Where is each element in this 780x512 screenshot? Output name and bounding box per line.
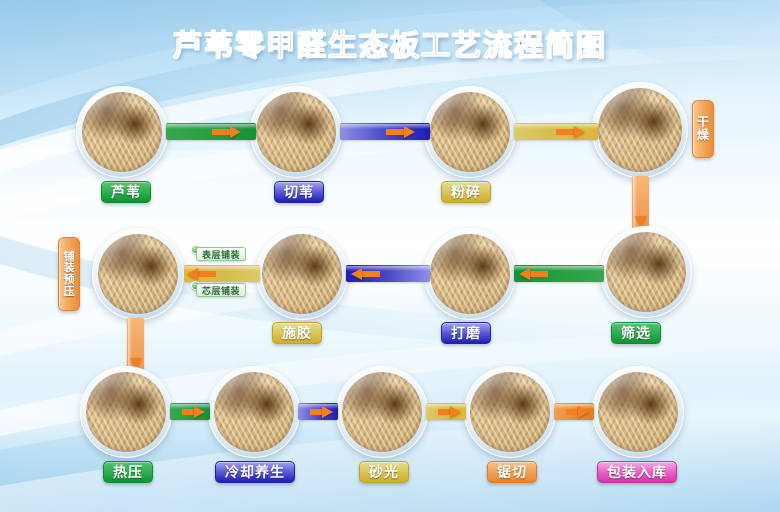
process-node-polish[interactable] — [424, 228, 516, 320]
connector-crush-to-dry — [514, 123, 598, 140]
node-photo — [470, 372, 550, 452]
connector-cut-to-crush — [340, 123, 430, 140]
process-node-sawing[interactable] — [464, 366, 556, 458]
arrow-left-icon — [519, 268, 530, 280]
step-label-cut-reed[interactable]: 切苇 — [274, 181, 324, 203]
process-node-hot-press[interactable] — [80, 366, 172, 458]
node-photo — [98, 234, 178, 314]
poster-canvas: 芦苇零甲醛生态板工艺流程简图 芦苇 切苇 粉碎 干燥 — [0, 0, 780, 512]
step-label-laying-prepress-text: 铺装预压 — [64, 251, 75, 297]
arrow-right-icon — [450, 406, 461, 418]
step-label-glue[interactable]: 施胶 — [272, 322, 322, 344]
step-label-laying-prepress[interactable]: 铺装预压 — [58, 237, 80, 311]
step-label-cooling-curing[interactable]: 冷却养生 — [215, 461, 295, 483]
arrow-stem — [386, 129, 404, 135]
node-photo — [430, 92, 510, 172]
step-label-polish[interactable]: 打磨 — [441, 322, 491, 344]
arrow-right-icon — [578, 406, 589, 418]
node-photo — [342, 372, 422, 452]
arrow-stem — [556, 129, 574, 135]
page-title-wrap: 芦苇零甲醛生态板工艺流程简图 — [0, 22, 780, 64]
arrow-right-icon — [404, 126, 415, 138]
process-node-dry[interactable] — [592, 82, 688, 178]
arrow-stem — [566, 409, 578, 415]
connector-hotpress-to-cooling — [170, 403, 210, 420]
node-photo — [214, 372, 294, 452]
process-node-reed[interactable] — [76, 86, 168, 178]
step-label-screen[interactable]: 筛选 — [611, 322, 661, 344]
arrow-stem — [438, 409, 450, 415]
step-label-reed[interactable]: 芦苇 — [101, 181, 151, 203]
arrow-stem — [310, 409, 322, 415]
arrow-stem — [362, 271, 380, 277]
step-label-hot-press[interactable]: 热压 — [103, 461, 153, 483]
step-label-sawing[interactable]: 锯切 — [487, 461, 537, 483]
process-node-crush[interactable] — [424, 86, 516, 178]
connector-glue-to-laying — [184, 265, 260, 282]
connector-sawing-to-packaging — [554, 403, 594, 420]
arrow-stem — [182, 409, 194, 415]
arrow-right-icon — [230, 126, 241, 138]
step-label-dry[interactable]: 干燥 — [692, 100, 714, 158]
process-node-screen[interactable] — [600, 226, 692, 318]
sub-label-core-layer[interactable]: 芯层铺装 — [196, 283, 246, 297]
arrow-left-icon — [187, 268, 198, 280]
connector-polish-to-glue — [346, 265, 430, 282]
arrow-left-icon — [351, 268, 362, 280]
connector-screen-to-polish — [514, 265, 604, 282]
process-node-cut-reed[interactable] — [250, 86, 342, 178]
node-photo — [256, 92, 336, 172]
node-photo — [86, 372, 166, 452]
arrow-right-icon — [322, 406, 333, 418]
step-label-crush[interactable]: 粉碎 — [441, 181, 491, 203]
process-node-sanding[interactable] — [336, 366, 428, 458]
process-node-cooling-curing[interactable] — [208, 366, 300, 458]
node-photo — [598, 372, 678, 452]
sub-label-surface-layer[interactable]: 表层铺装 — [196, 247, 246, 261]
step-label-packaging[interactable]: 包装入库 — [597, 461, 677, 483]
arrow-stem — [530, 271, 548, 277]
page-title: 芦苇零甲醛生态板工艺流程简图 — [173, 22, 607, 64]
step-label-dry-char1: 干燥 — [697, 116, 709, 141]
process-node-packaging[interactable] — [592, 366, 684, 458]
node-photo — [430, 234, 510, 314]
process-node-glue[interactable] — [256, 228, 348, 320]
process-node-laying-prepress[interactable] — [92, 228, 184, 320]
arrow-down-icon — [635, 216, 647, 226]
connector-sanding-to-sawing — [426, 403, 466, 420]
connector-cooling-to-sanding — [298, 403, 338, 420]
step-label-sanding[interactable]: 砂光 — [359, 461, 409, 483]
arrow-stem — [212, 129, 230, 135]
arrow-right-icon — [194, 406, 205, 418]
connector-reed-to-cut — [166, 123, 256, 140]
node-photo — [82, 92, 162, 172]
node-photo — [262, 234, 342, 314]
node-photo — [606, 232, 686, 312]
arrow-right-icon — [574, 126, 585, 138]
node-photo — [598, 88, 682, 172]
arrow-stem — [198, 271, 216, 277]
